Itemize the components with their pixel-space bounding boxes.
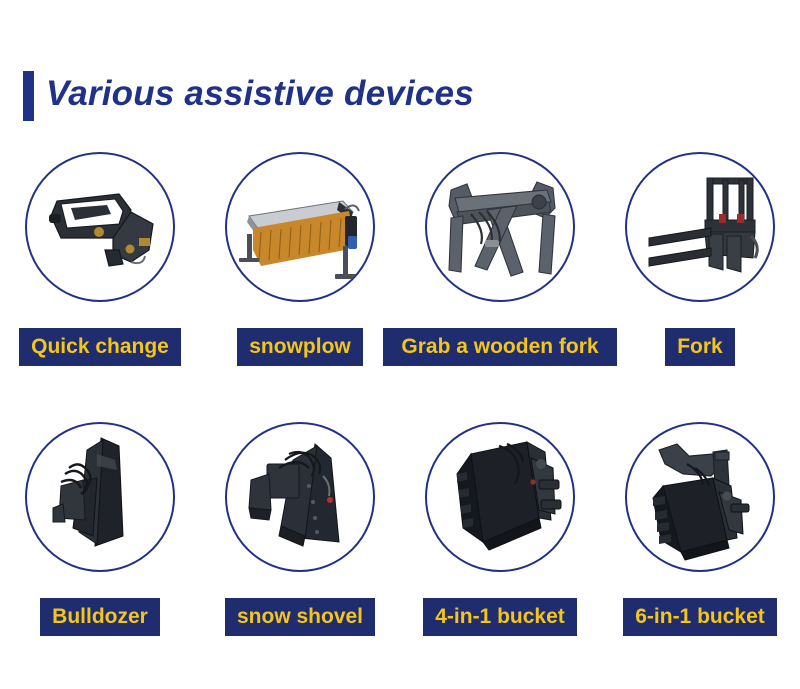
product-cell-snowplow[interactable]: snowplow (200, 152, 400, 366)
label-wrap: 4-in-1 bucket (400, 598, 600, 636)
dozer-blade-icon (25, 422, 175, 572)
product-label-fork[interactable]: Fork (665, 328, 735, 366)
product-cell-bulldozer[interactable]: Bulldozer (0, 422, 200, 636)
product-cell-4in1-bucket[interactable]: 4-in-1 bucket (400, 422, 600, 636)
product-cell-fork[interactable]: Fork (600, 152, 800, 366)
product-label-bulldozer[interactable]: Bulldozer (40, 598, 160, 636)
label-wrap: snow shovel (200, 598, 400, 636)
product-cell-snow-shovel[interactable]: snow shovel (200, 422, 400, 636)
log-grapple-icon (425, 152, 575, 302)
label-wrap: Grab a wooden fork (400, 328, 600, 366)
product-row-1: Quick change (0, 152, 800, 366)
page-header: Various assistive devices (0, 0, 800, 150)
product-cell-quick-change[interactable]: Quick change (0, 152, 200, 366)
page-title: Various assistive devices (46, 66, 474, 122)
product-label-snowplow[interactable]: snowplow (237, 328, 363, 366)
label-wrap: 6-in-1 bucket (600, 598, 800, 636)
title-accent-bar (23, 71, 34, 121)
snow-shovel-blade-icon (225, 422, 375, 572)
snowplow-brush-icon (225, 152, 375, 302)
quick-change-attachment-icon (25, 152, 175, 302)
product-label-4in1-bucket[interactable]: 4-in-1 bucket (423, 598, 577, 636)
label-wrap: Fork (600, 328, 800, 366)
product-cell-log-grapple[interactable]: Grab a wooden fork (400, 152, 600, 366)
product-row-2: Bulldozer (0, 422, 800, 636)
four-in-one-bucket-icon (425, 422, 575, 572)
product-label-log-grapple[interactable]: Grab a wooden fork (383, 328, 616, 366)
pallet-fork-icon (625, 152, 775, 302)
product-label-quick-change[interactable]: Quick change (19, 328, 181, 366)
label-wrap: Quick change (0, 328, 200, 366)
product-label-snow-shovel[interactable]: snow shovel (225, 598, 375, 636)
product-cell-6in1-bucket[interactable]: 6-in-1 bucket (600, 422, 800, 636)
label-wrap: snowplow (200, 328, 400, 366)
product-label-6in1-bucket[interactable]: 6-in-1 bucket (623, 598, 777, 636)
six-in-one-bucket-icon (625, 422, 775, 572)
label-wrap: Bulldozer (0, 598, 200, 636)
